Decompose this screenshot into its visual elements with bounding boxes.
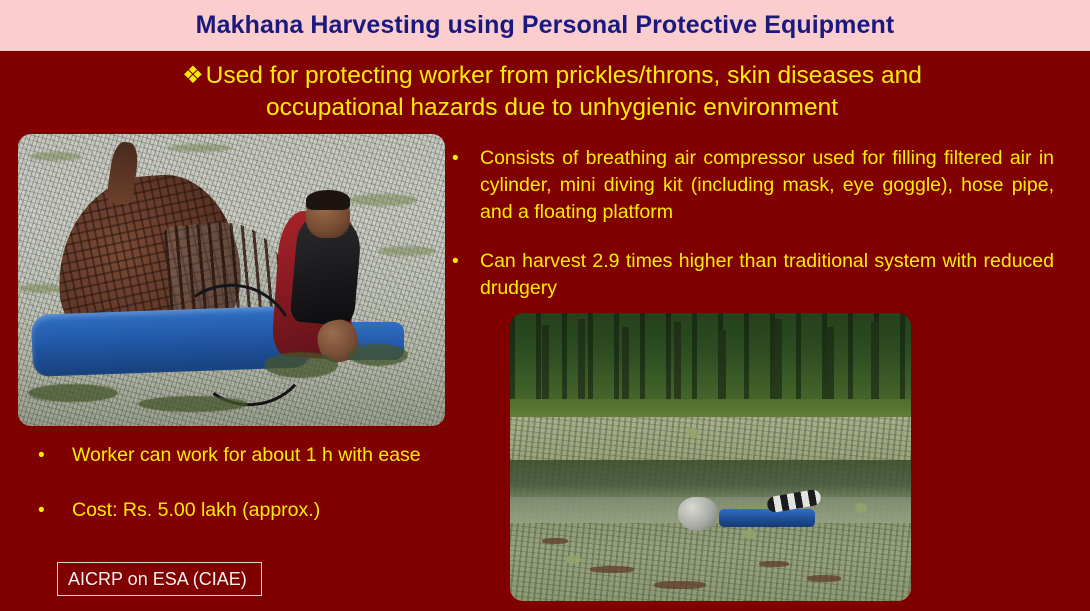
lily-pad — [566, 555, 581, 564]
blue-floating-platform — [719, 509, 815, 527]
subtitle-line-2: occupational hazards due to unhygienic e… — [152, 92, 952, 124]
list-item: • Consists of breathing air compressor u… — [452, 145, 1054, 226]
bullet-dot-icon: • — [452, 145, 480, 226]
leaf-patch — [168, 144, 232, 152]
project-credit-badge: AICRP on ESA (CIAE) — [57, 562, 262, 596]
leaf-patch — [30, 152, 82, 161]
leaf-patch — [18, 284, 64, 293]
tree-trunk — [775, 319, 782, 405]
tree-trunk — [578, 319, 585, 405]
left-bullet-list: • Worker can work for about 1 h with eas… — [38, 442, 458, 552]
subtitle-block: ❖Used for protecting worker from prickle… — [152, 60, 952, 124]
bullet-dot-icon: • — [38, 442, 72, 469]
bullet-dot-icon: • — [452, 248, 480, 302]
page-title: Makhana Harvesting using Personal Protec… — [196, 11, 895, 40]
list-item: • Worker can work for about 1 h with eas… — [38, 442, 458, 469]
tree-trunk — [622, 327, 629, 405]
photo-pond-with-platform — [510, 313, 911, 601]
floating-debris — [759, 561, 789, 567]
bullet-dot-icon: • — [38, 497, 72, 524]
title-banner: Makhana Harvesting using Personal Protec… — [0, 0, 1090, 51]
list-item: • Can harvest 2.9 times higher than trad… — [452, 248, 1054, 302]
water-weed — [138, 396, 248, 412]
floating-debris — [542, 538, 568, 544]
tree-trunk — [719, 330, 726, 405]
right-bullet-list: • Consists of breathing air compressor u… — [452, 145, 1054, 324]
bullet-text: Cost: Rs. 5.00 lakh (approx.) — [72, 497, 458, 524]
water-weed — [264, 352, 338, 378]
photo-worker-with-platform — [18, 134, 445, 426]
pond-scene-right — [510, 313, 911, 601]
tree-trunk — [871, 322, 878, 406]
badge-label: AICRP on ESA (CIAE) — [68, 569, 247, 590]
worker-hair — [306, 190, 350, 210]
leaf-patch — [378, 246, 436, 256]
tree-trunk — [674, 322, 681, 406]
list-item: • Cost: Rs. 5.00 lakh (approx.) — [38, 497, 458, 524]
bullet-text: Can harvest 2.9 times higher than tradit… — [480, 248, 1054, 302]
tree-line — [510, 313, 911, 411]
floating-debris — [807, 575, 841, 582]
diamond-bullet-icon: ❖ — [182, 62, 204, 89]
open-water-strip — [510, 460, 911, 500]
tree-trunk — [542, 325, 549, 406]
floating-debris — [654, 581, 706, 589]
lily-pad — [855, 503, 867, 513]
lily-pad — [743, 529, 756, 539]
subtitle-line-1: Used for protecting worker from prickles… — [206, 62, 922, 89]
water-weed — [28, 384, 118, 402]
water-weed — [348, 344, 408, 366]
bullet-text: Worker can work for about 1 h with ease — [72, 442, 458, 469]
presentation-slide: Makhana Harvesting using Personal Protec… — [0, 0, 1090, 611]
leaf-patch — [348, 194, 418, 206]
bullet-text: Consists of breathing air compressor use… — [480, 145, 1054, 226]
tree-trunk — [827, 327, 834, 405]
